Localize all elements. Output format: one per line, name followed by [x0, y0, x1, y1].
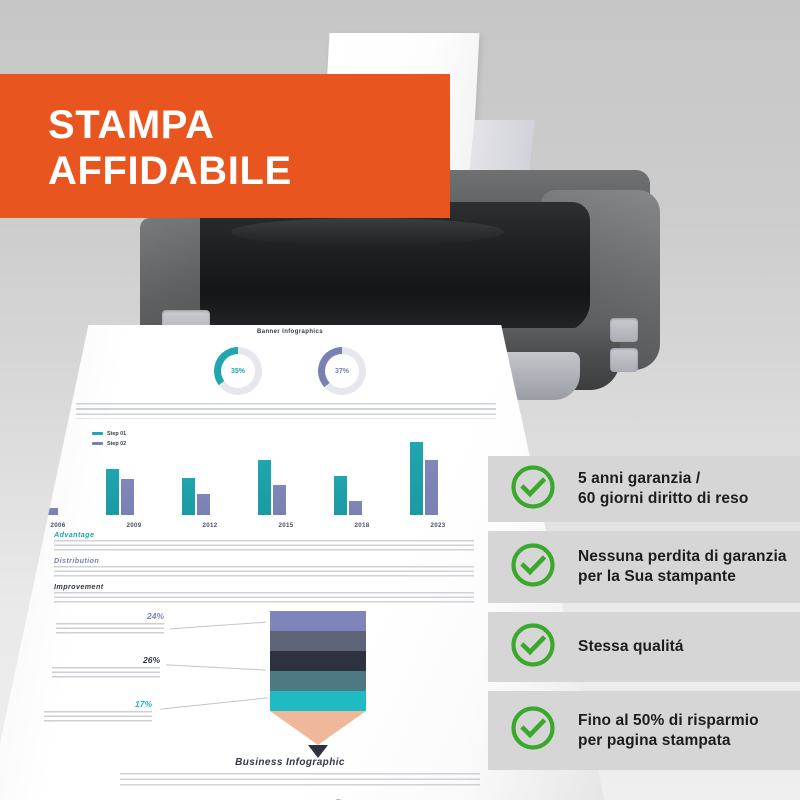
funnel-slice-3: [270, 651, 366, 671]
funnel-callout-lines-2: [52, 667, 160, 680]
bar-label-2023: 2023: [410, 522, 466, 529]
pencil-funnel-graphic: [270, 611, 366, 745]
bar-group-2015: [258, 460, 314, 515]
bar-2015-step-01: [258, 460, 271, 515]
feature-text-3: Stessa qualitá: [578, 637, 684, 657]
check-circle-icon: [510, 464, 556, 515]
check-circle-icon: [510, 622, 556, 673]
printout-paragraph-lines: [76, 403, 496, 419]
check-circle-icon: [510, 542, 556, 593]
feature-2-line-1: Nessuna perdita di garanzia: [578, 548, 787, 565]
feature-box-1[interactable]: 5 anni garanzia / 60 giorni diritto di r…: [488, 456, 800, 522]
step-body-lines-01: [54, 540, 474, 552]
promo-banner-canvas: Banner Infographics 35% 37% Step 01 Step…: [0, 0, 800, 800]
bar-2012-step-02: [197, 494, 210, 515]
funnel-callout-3: 17%: [44, 699, 152, 724]
funnel-leader-line-1: [170, 622, 266, 630]
step-number-02: 02: [10, 559, 23, 571]
printer-top-drum: [200, 202, 590, 332]
feature-box-2[interactable]: Nessuna perdita di garanzia per la Sua s…: [488, 531, 800, 603]
bar-group-2009: [106, 469, 162, 515]
feature-text-4: Fino al 50% di risparmio per pagina stam…: [578, 711, 759, 751]
funnel-callout-lines-3: [44, 711, 152, 724]
step-number-01: 01: [10, 533, 23, 545]
funnel-pct-1: 24%: [56, 611, 164, 621]
funnel-callout-lines-1: [56, 623, 164, 636]
bar-chart: 200620092012201520182023: [30, 421, 500, 529]
bar-2023-step-02: [425, 460, 438, 515]
donut-value-2: 37%: [325, 354, 359, 388]
pencil-tip: [270, 711, 366, 745]
headline-banner: STAMPA AFFIDABILE: [0, 74, 450, 218]
feature-3-line-1: Stessa qualitá: [578, 638, 684, 655]
donut-value-1: 35%: [221, 354, 255, 388]
step-item-02: 02 Distribution: [10, 556, 530, 582]
bar-group-2018: [334, 476, 390, 515]
donut-chart-1: 35%: [214, 347, 262, 395]
bar-2018-step-02: [349, 501, 362, 515]
bar-2018-step-01: [334, 476, 347, 515]
headline-line-2: AFFIDABILE: [48, 149, 292, 193]
bar-2006-step-01: [30, 503, 43, 515]
funnel-pct-2: 26%: [52, 655, 160, 665]
bar-2006-step-02: [45, 508, 58, 515]
bar-label-2012: 2012: [182, 522, 238, 529]
funnel-leader-line-3: [160, 697, 268, 709]
funnel-slice-4: [270, 671, 366, 691]
funnel-slice-5: [270, 691, 366, 711]
donut-chart-2: 37%: [318, 347, 366, 395]
headline-line-1: STAMPA: [48, 103, 215, 147]
page-title: STAMPA AFFIDABILE: [48, 102, 292, 195]
bar-group-2012: [182, 478, 238, 515]
step-title-02: Distribution: [54, 556, 99, 565]
bar-label-2006: 2006: [30, 522, 86, 529]
bar-2009-step-02: [121, 479, 134, 515]
printer-button-right-top: [610, 318, 638, 342]
feature-text-2: Nessuna perdita di garanzia per la Sua s…: [578, 547, 787, 587]
bar-group-2006: [30, 503, 86, 515]
feature-1-line-1: 5 anni garanzia /: [578, 470, 700, 487]
funnel-callout-1: 24%: [56, 611, 164, 636]
step-number-03: 03: [10, 585, 23, 597]
feature-4-line-1: Fino al 50% di risparmio: [578, 712, 759, 729]
feature-2-line-2: per la Sua stampante: [578, 568, 736, 585]
feature-box-3[interactable]: Stessa qualitá: [488, 612, 800, 682]
step-body-lines-03: [54, 592, 474, 604]
printer-button-right-bottom: [610, 348, 638, 372]
step-title-03: Improvement: [54, 582, 104, 591]
bar-2012-step-01: [182, 478, 195, 515]
bar-label-2018: 2018: [334, 522, 390, 529]
bar-2023-step-01: [410, 442, 423, 515]
bar-2009-step-01: [106, 469, 119, 515]
feature-4-line-2: per pagina stampata: [578, 732, 731, 749]
check-circle-icon: [510, 705, 556, 756]
bar-label-2009: 2009: [106, 522, 162, 529]
numbered-step-list: 01 Advantage 02 Distribution 03 Improvem…: [10, 530, 530, 608]
funnel-slice-2: [270, 631, 366, 651]
feature-text-1: 5 anni garanzia / 60 giorni diritto di r…: [578, 469, 748, 509]
step-item-01: 01 Advantage: [10, 530, 530, 556]
step-body-lines-02: [54, 566, 474, 578]
business-infographic-lines: [120, 773, 480, 789]
bar-group-2023: [410, 442, 466, 515]
funnel-slice-1: [270, 611, 366, 631]
funnel-pct-3: 17%: [44, 699, 152, 709]
bar-label-2015: 2015: [258, 522, 314, 529]
funnel-leader-line-2: [166, 664, 266, 670]
bar-2015-step-02: [273, 485, 286, 515]
feature-1-line-2: 60 giorni diritto di reso: [578, 490, 748, 507]
step-item-03: 03 Improvement: [10, 582, 530, 608]
feature-box-4[interactable]: Fino al 50% di risparmio per pagina stam…: [488, 691, 800, 770]
funnel-callout-2: 26%: [52, 655, 160, 680]
step-title-01: Advantage: [54, 530, 94, 539]
